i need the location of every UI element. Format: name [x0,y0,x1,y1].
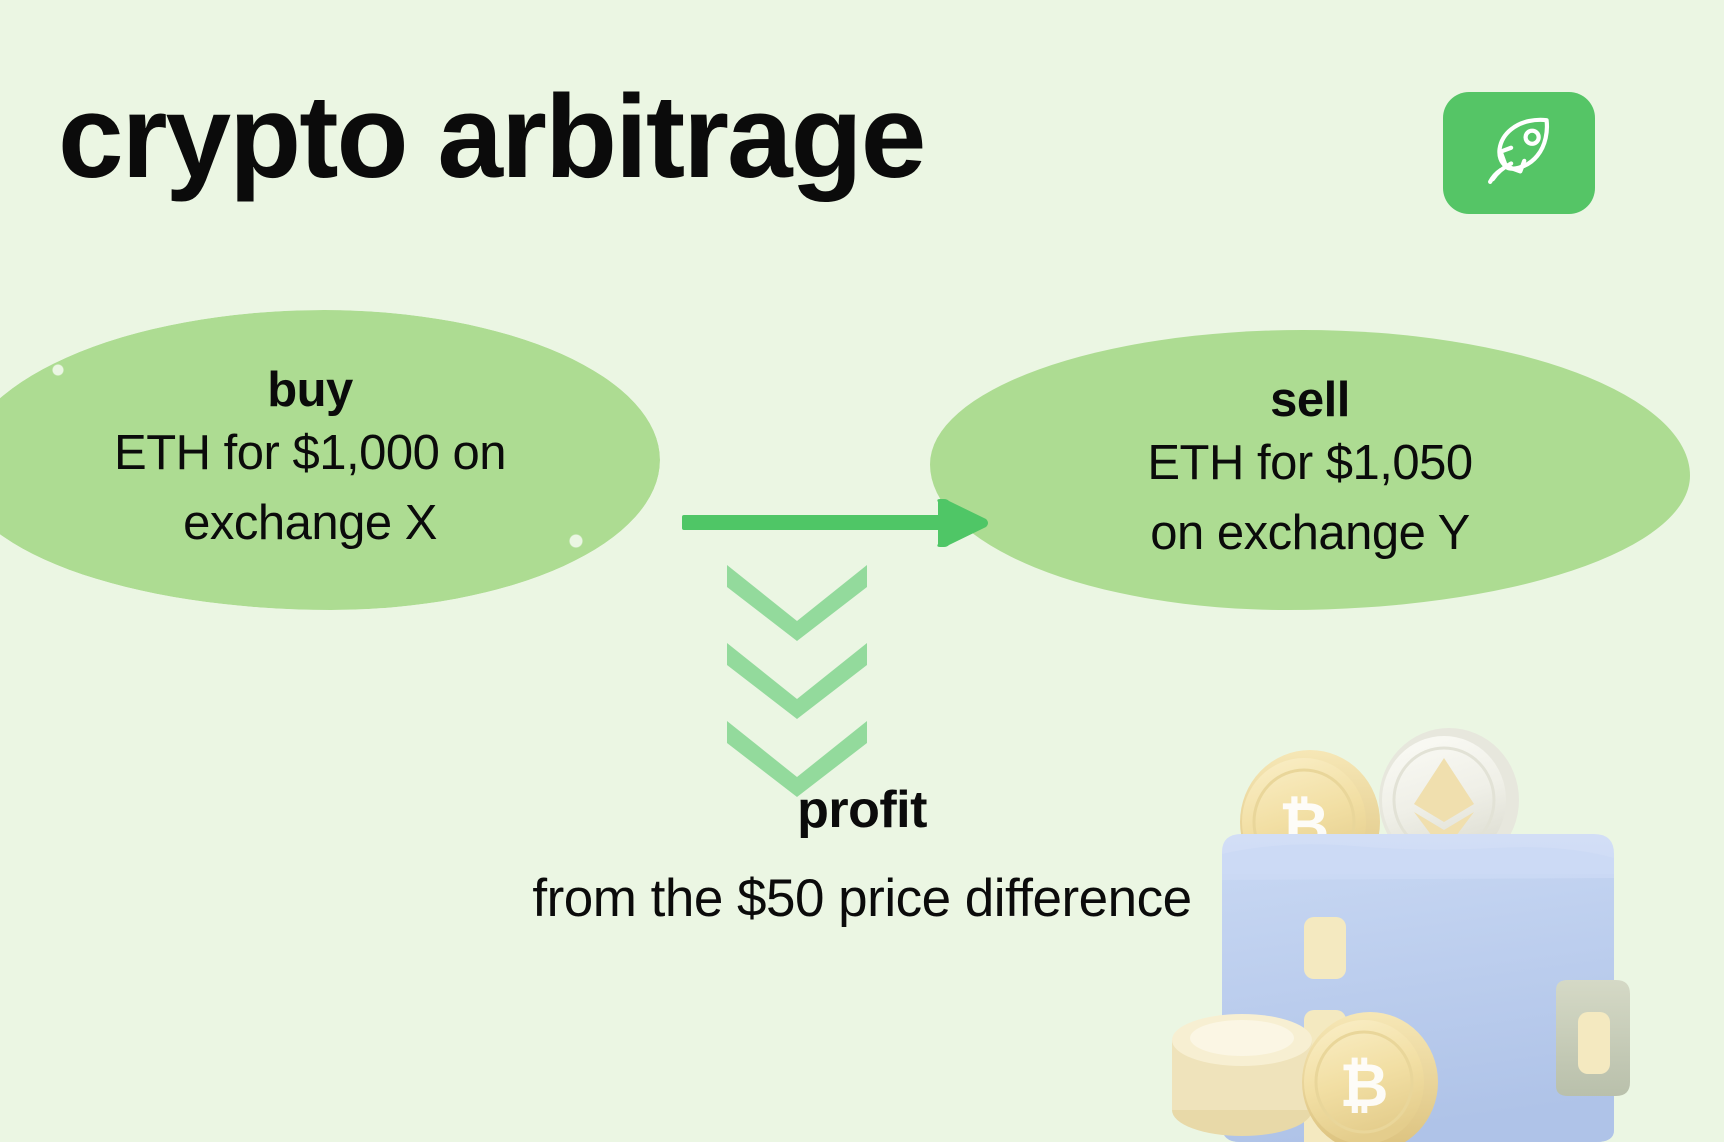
step-card-buy: buy ETH for $1,000 on exchange X [0,310,660,610]
step-body-line1-sell: ETH for $1,050 [930,429,1690,499]
step-body-line2-buy: exchange X [0,489,660,559]
step-body-line1-buy: ETH for $1,000 on [0,419,660,489]
step-heading-sell: sell [930,372,1690,430]
bitcoin-coin-front: ₿ [1302,1012,1438,1142]
chevron-down-icon [727,643,867,719]
infographic-canvas: crypto arbitrage buy ETH for $1,000 on e… [0,0,1724,1142]
rocket-icon [1477,111,1561,195]
result-subtext: from the $50 price difference [0,868,1724,929]
svg-text:₿: ₿ [1340,1052,1389,1119]
step-body-line2-sell: on exchange Y [930,499,1690,569]
rocket-badge [1443,92,1595,214]
chevron-down-icon [727,565,867,641]
step-heading-buy: buy [0,362,660,420]
step-card-sell: sell ETH for $1,050 on exchange Y [930,330,1690,610]
result-heading: profit [0,780,1724,840]
coin-stack [1172,1014,1312,1136]
step-text-buy: buy ETH for $1,000 on exchange X [0,362,660,559]
step-text-sell: sell ETH for $1,050 on exchange Y [930,372,1690,569]
arrow-shaft [682,515,950,530]
page-title: crypto arbitrage [58,78,924,196]
flow-chevrons-down [727,565,867,800]
